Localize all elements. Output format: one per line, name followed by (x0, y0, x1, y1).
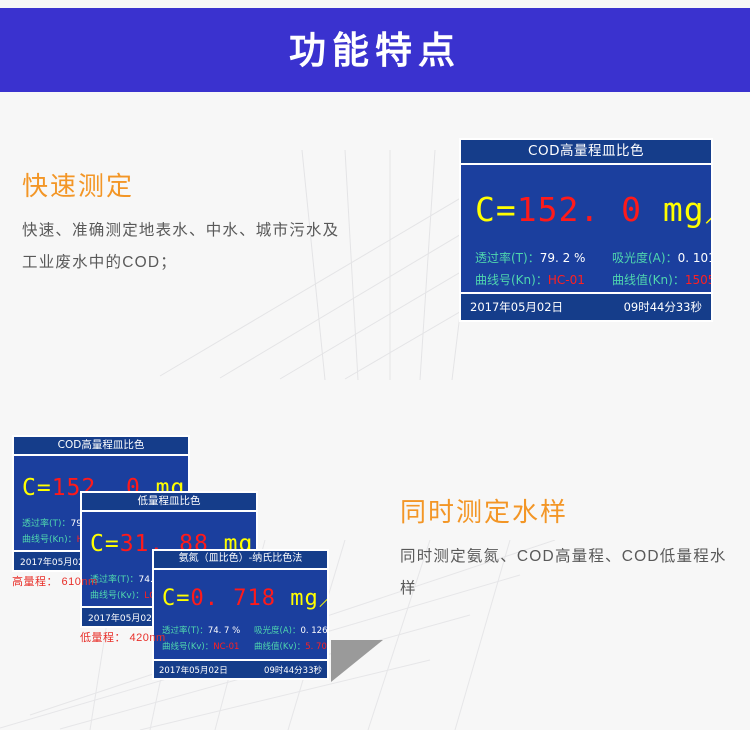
absorbance-label: 吸光度(A)： (612, 251, 678, 265)
curve-number-label: 曲线号(Kn)： (22, 535, 77, 545)
concentration-equals: C= (90, 531, 120, 557)
curve-number-value: NC-01 (213, 642, 239, 652)
caption-low-range-wavelength: 低量程： 420nm (80, 629, 166, 645)
lcd-header-title: 低量程皿比色 (82, 493, 256, 512)
feature-title: 快速测定 (22, 172, 352, 201)
feature-body: 快速、准确测定地表水、中水、城市污水及工业废水中的COD； (22, 215, 352, 279)
page-banner: 功能特点 (0, 8, 750, 92)
lcd-footer: 2017年05月02日 09时44分33秒 (154, 659, 327, 678)
lcd-row-curve: 曲线号(Kn)：HC-01 曲线值(Kn)：1505 (475, 271, 585, 288)
curve-number-label: 曲线号(Kn)： (475, 273, 548, 287)
curve-number-value: HC-01 (548, 273, 585, 287)
feature-title: 同时测定水样 (400, 498, 730, 527)
lcd-header-title: 氨氮（皿比色）-纳氏比色法 (154, 551, 327, 570)
lcd-date: 2017年05月02日 (159, 664, 228, 676)
lcd-header-title: COD高量程皿比色 (461, 140, 711, 165)
lcd-screen-cod-high-range-main: COD高量程皿比色 C=152. 0 mg／L 透过率(T)：79. 2 % 吸… (459, 138, 713, 322)
curve-value-value: 1505 (685, 273, 713, 287)
absorbance-value: 0. 126 (300, 626, 327, 636)
lcd-date: 2017年05月02日 (88, 611, 161, 624)
absorbance-value: 0. 101 (678, 251, 713, 265)
curve-value-value: 5. 700 (305, 642, 329, 652)
curve-value-label: 曲线值(Kn)： (612, 273, 685, 287)
concentration-value: 0. 718 (191, 586, 276, 611)
concentration-equals: C= (162, 586, 191, 611)
lcd-row-curve: 曲线号(Kv)：NC-01 曲线值(Kv)：5. 700 (162, 640, 239, 652)
absorbance-group: 吸光度(A)：0. 101 (612, 249, 713, 266)
lcd-body: C=152. 0 mg／L 透过率(T)：79. 2 % 吸光度(A)：0. 1… (461, 165, 711, 292)
lcd-date: 2017年05月02日 (470, 299, 563, 315)
page-title: 功能特点 (289, 32, 461, 69)
transmittance-label: 透过率(T)： (162, 626, 208, 636)
transmittance-value: 74. 7 % (208, 626, 240, 636)
curve-number-label: 曲线号(Kv)： (90, 591, 144, 601)
absorbance-group: 吸光度(A)：0. 126 (254, 624, 328, 636)
lcd-row-transmittance: 透过率(T)：79. 2 % 吸光度(A)：0. 101 (475, 249, 585, 266)
concentration-unit: mg／L (290, 586, 329, 611)
feature-body: 同时测定氨氮、COD高量程、COD低量程水样 (400, 541, 730, 605)
lcd-time: 09时44分33秒 (624, 299, 702, 315)
arrow-decoration-icon (331, 640, 387, 684)
lcd-header-title: COD高量程皿比色 (14, 437, 188, 456)
absorbance-label: 吸光度(A)： (254, 626, 300, 636)
curve-value-group: 曲线值(Kn)：1505 (612, 271, 713, 288)
transmittance-value: 79. 2 % (540, 251, 586, 265)
transmittance-label: 透过率(T)： (475, 251, 540, 265)
lcd-screen-ammonia-nitrogen-stacked: 氨氮（皿比色）-纳氏比色法 C=0. 718 mg／L 透过率(T)：74. 7… (152, 549, 329, 680)
concentration-readout: C=152. 0 mg／L (475, 183, 713, 231)
concentration-equals: C= (22, 475, 52, 501)
concentration-equals: C= (475, 190, 517, 229)
curve-number-label: 曲线号(Kv)： (162, 642, 213, 652)
lcd-time: 09时44分33秒 (264, 664, 322, 676)
concentration-readout: C=0. 718 mg／L (162, 580, 329, 612)
lcd-footer: 2017年05月02日 09时44分33秒 (461, 292, 711, 320)
feature-block-simultaneous-measurement: 同时测定水样 同时测定氨氮、COD高量程、COD低量程水样 (400, 498, 730, 605)
lcd-row-transmittance: 透过率(T)：74. 7 % 吸光度(A)：0. 126 (162, 624, 240, 636)
transmittance-label: 透过率(T)： (22, 519, 71, 529)
curve-value-label: 曲线值(Kv)： (254, 642, 305, 652)
concentration-unit: mg／L (663, 190, 713, 229)
lcd-body: C=0. 718 mg／L 透过率(T)：74. 7 % 吸光度(A)：0. 1… (154, 570, 327, 659)
curve-value-group: 曲线值(Kv)：5. 700 (254, 640, 329, 652)
feature-block-fast-measurement: 快速测定 快速、准确测定地表水、中水、城市污水及工业废水中的COD； (22, 172, 352, 279)
concentration-value: 152. 0 (517, 190, 642, 229)
caption-high-range-wavelength: 高量程： 610nm (12, 573, 98, 589)
